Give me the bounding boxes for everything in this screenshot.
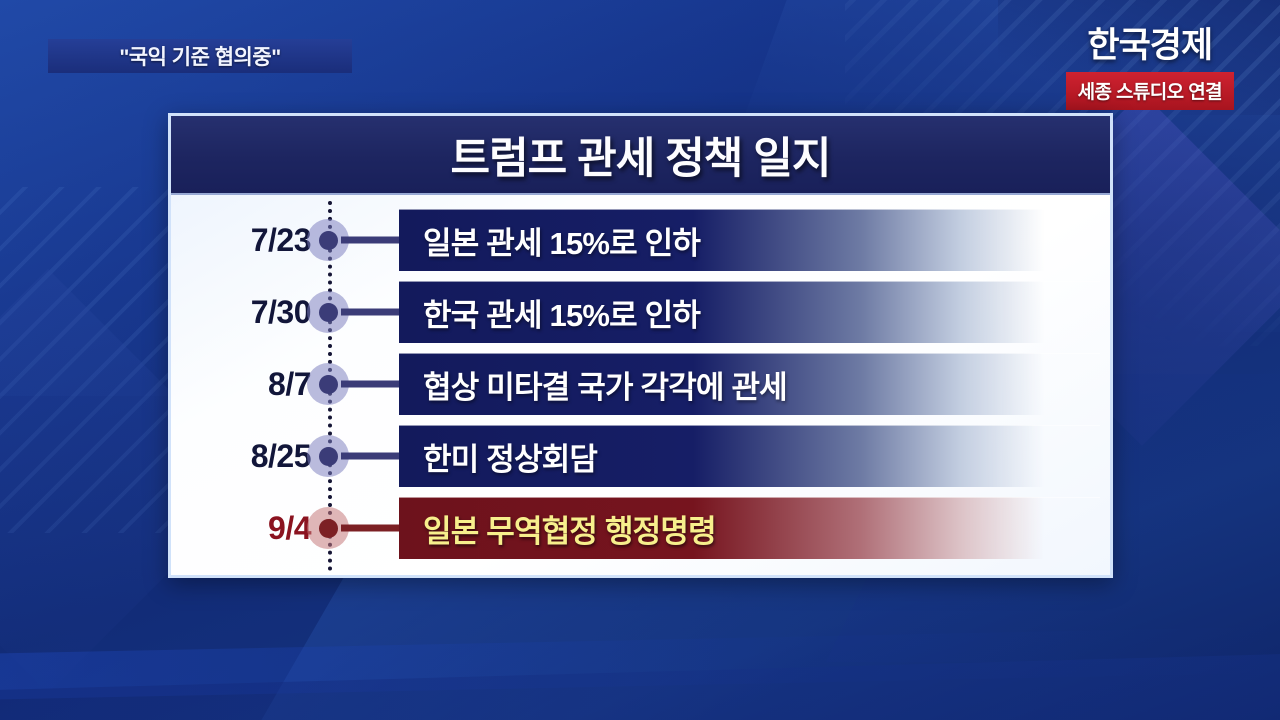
- timeline-connector-line: [341, 381, 403, 388]
- timeline-event-label: 한미 정상회담: [399, 434, 597, 479]
- timeline-event-bar: 한미 정상회담: [399, 425, 1100, 487]
- timeline-event-bar: 한국 관세 15%로 인하: [399, 281, 1100, 343]
- timeline-connector-line: [341, 453, 403, 460]
- timeline-date-label: 7/30: [171, 294, 311, 331]
- timeline-date-label: 9/4: [171, 510, 311, 547]
- timeline-body: 7/23 일본 관세 15%로 인하 7/30 한국 관세 15%로 인하 8/…: [171, 195, 1110, 575]
- timeline-date-label: 7/23: [171, 222, 311, 259]
- broadcaster-logo-text: 한국경제: [1066, 28, 1234, 63]
- timeline-row: 7/30 한국 관세 15%로 인하: [171, 281, 1110, 343]
- timeline-event-bar: 일본 관세 15%로 인하: [399, 209, 1100, 271]
- timeline-date-label: 8/25: [171, 438, 311, 475]
- news-caption-box: "국익 기준 협의중": [48, 39, 352, 73]
- timeline-card: 트럼프 관세 정책 일지 7/23 일본 관세 15%로 인하 7/30 한국 …: [168, 113, 1113, 578]
- timeline-event-bar: 협상 미타결 국가 각각에 관세: [399, 353, 1100, 415]
- card-title: 트럼프 관세 정책 일지: [451, 124, 831, 186]
- timeline-event-label: 일본 무역협정 행정명령: [399, 506, 716, 551]
- timeline-event-label: 한국 관세 15%로 인하: [399, 290, 700, 335]
- card-header-bar: 트럼프 관세 정책 일지: [171, 116, 1110, 195]
- timeline-row: 8/25 한미 정상회담: [171, 425, 1110, 487]
- news-caption-text: "국익 기준 협의중": [119, 41, 280, 71]
- studio-connection-badge: 세종 스튜디오 연결: [1066, 72, 1234, 110]
- timeline-connector-line: [341, 525, 403, 532]
- timeline-date-label: 8/7: [171, 366, 311, 403]
- timeline-connector-line: [341, 237, 403, 244]
- timeline-event-label: 일본 관세 15%로 인하: [399, 218, 700, 263]
- timeline-row-highlighted: 9/4 일본 무역협정 행정명령: [171, 497, 1110, 559]
- timeline-connector-line: [341, 309, 403, 316]
- timeline-row: 7/23 일본 관세 15%로 인하: [171, 209, 1110, 271]
- timeline-event-bar: 일본 무역협정 행정명령: [399, 497, 1100, 559]
- broadcaster-logo-group: 한국경제 세종 스튜디오 연결: [1066, 28, 1234, 110]
- timeline-event-label: 협상 미타결 국가 각각에 관세: [399, 362, 787, 407]
- timeline-row: 8/7 협상 미타결 국가 각각에 관세: [171, 353, 1110, 415]
